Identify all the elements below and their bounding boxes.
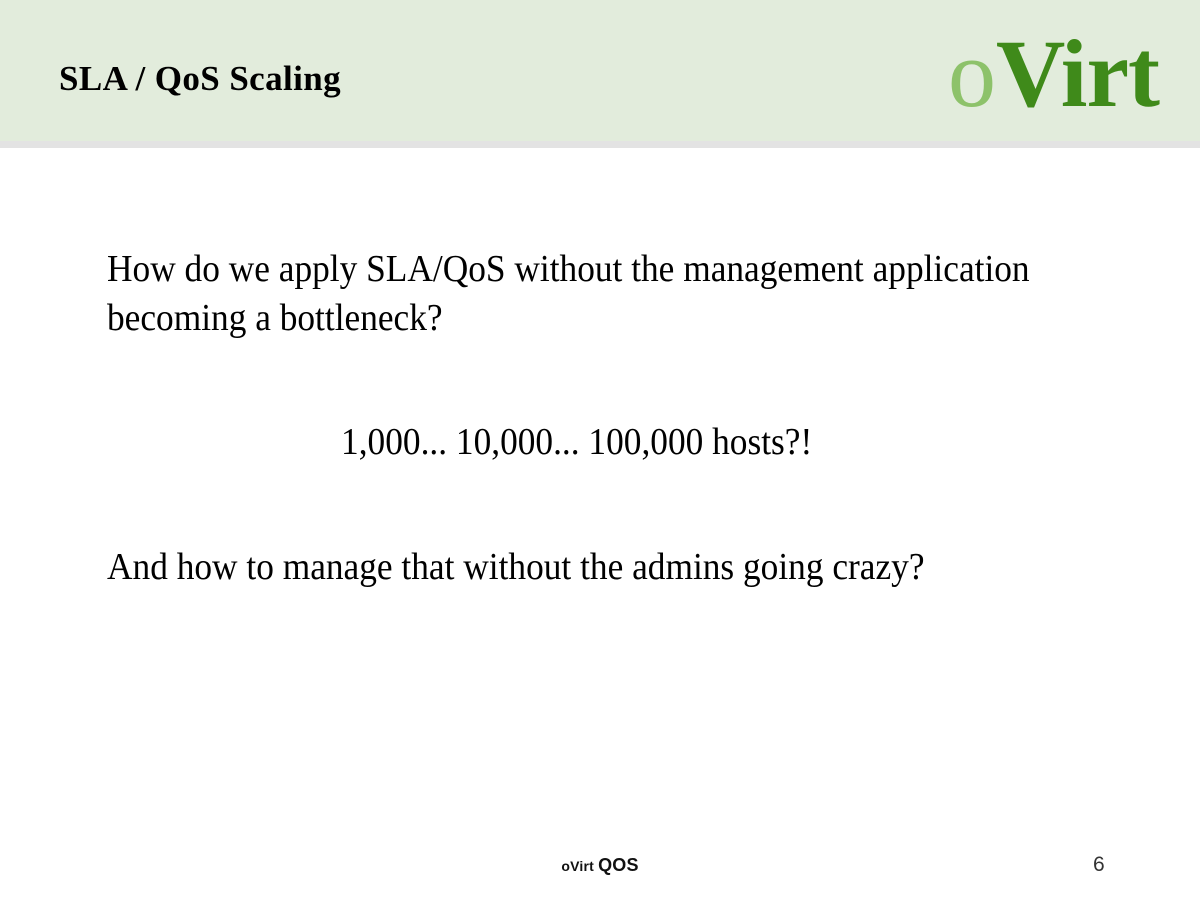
page-number: 6 [1093,853,1105,877]
logo-wordmark-virt: Virt [996,20,1159,127]
footer-brand-qos: QOS [598,855,639,875]
body-paragraph-scale-counts: 1,000... 10,000... 100,000 hosts?! [107,418,1046,467]
page-title: SLA / QoS Scaling [59,57,341,101]
slide-canvas: SLA / QoS Scaling oVirt How do we apply … [0,0,1200,900]
slide-header-divider [0,141,1200,148]
body-paragraph-question-1: How do we apply SLA/QoS without the mana… [107,245,1046,343]
footer-brand: oVirt QOS [0,855,1200,876]
footer-brand-ovirt: oVirt [561,858,598,874]
body-paragraph-question-2: And how to manage that without the admin… [107,543,1065,592]
logo-letter-o: o [948,20,996,127]
ovirt-logo: oVirt [948,26,1159,122]
